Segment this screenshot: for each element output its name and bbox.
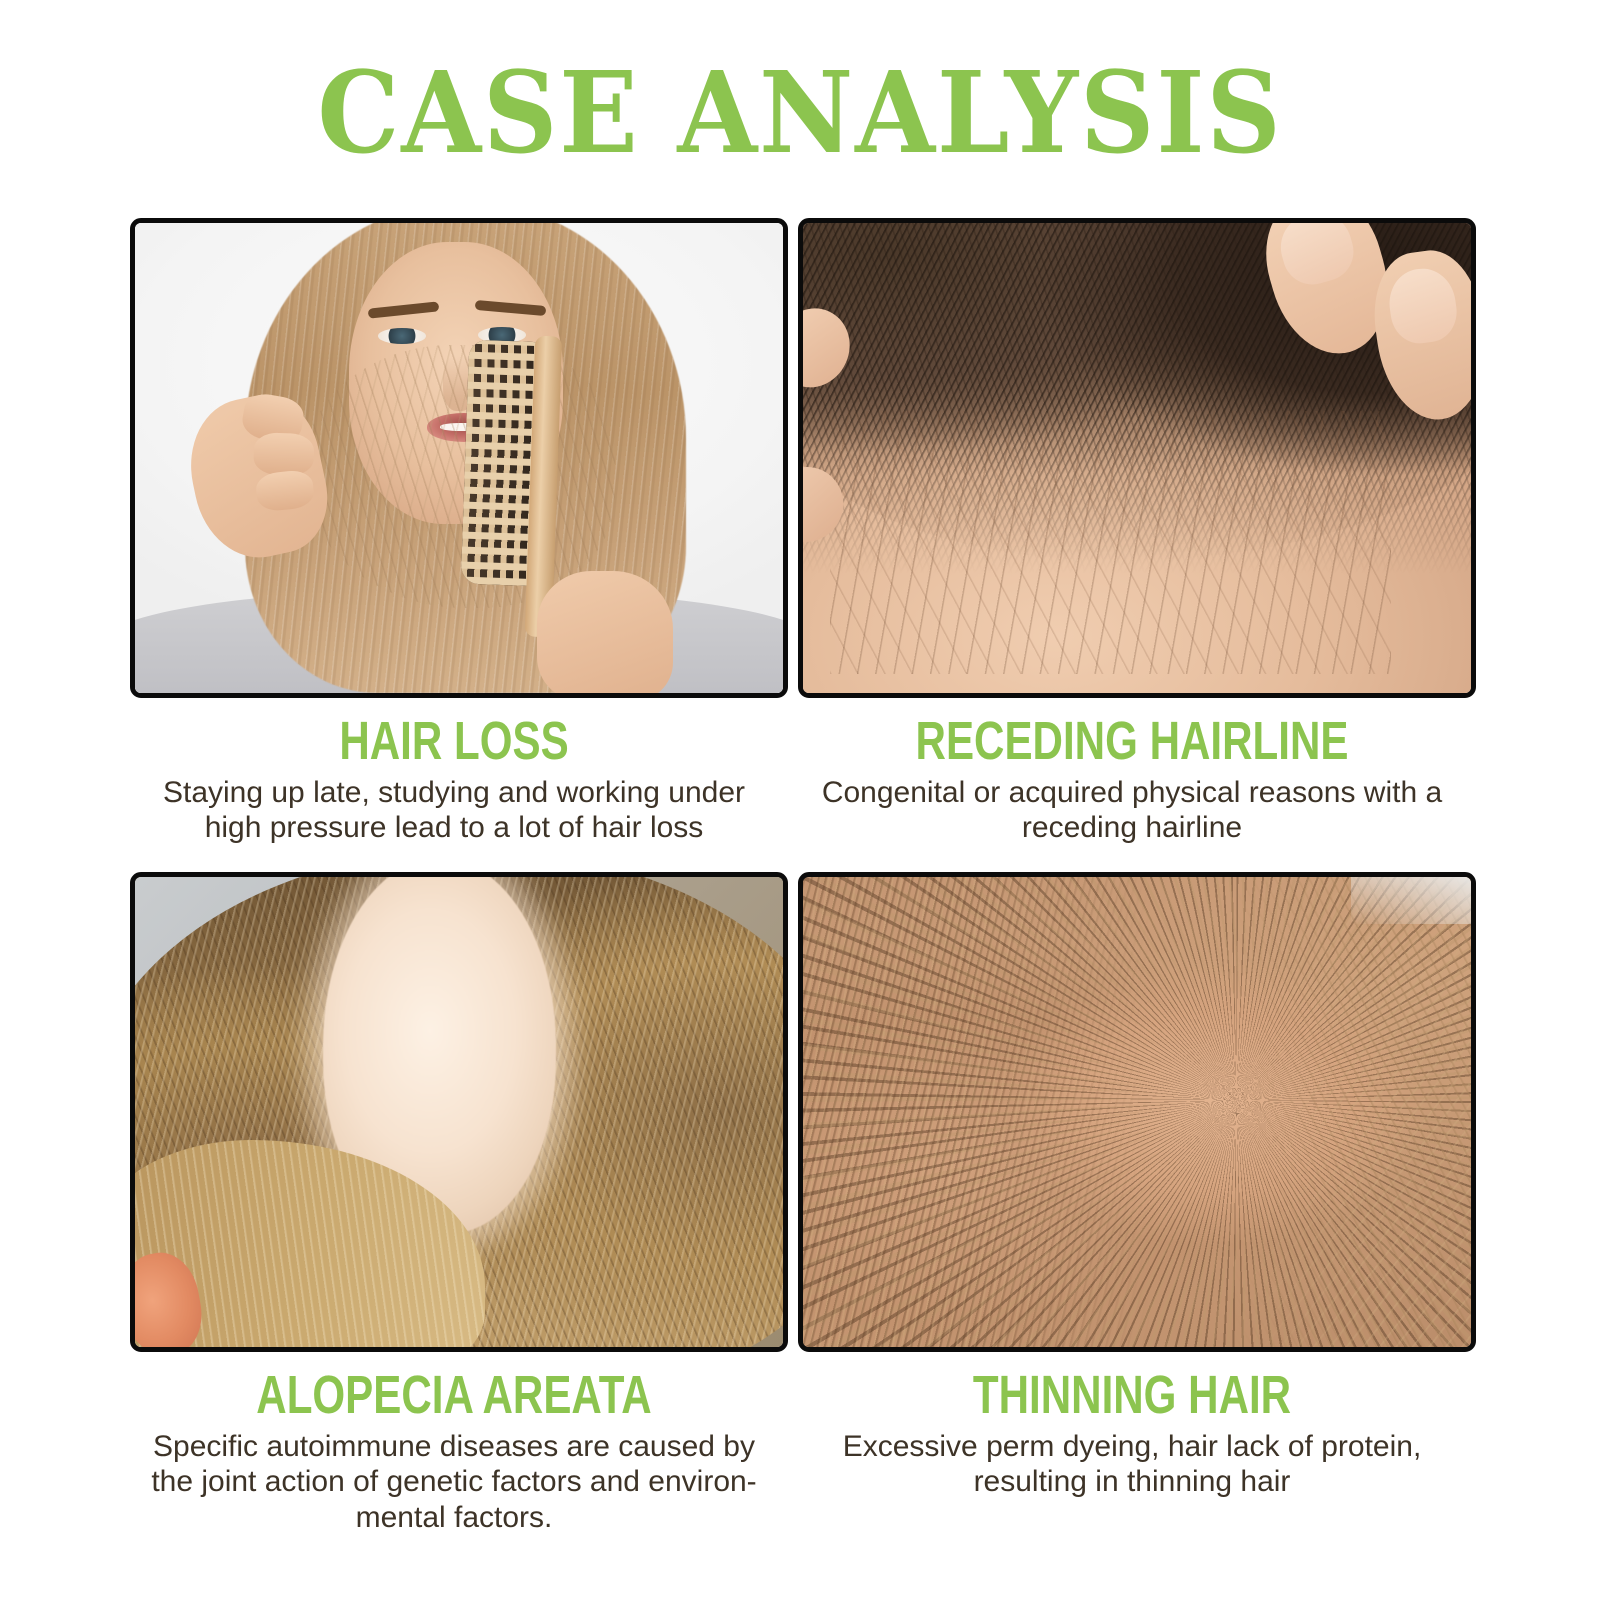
photo-frame-alopecia-areata <box>130 872 788 1352</box>
photo-frame-receding-hairline <box>798 218 1476 698</box>
case-card-thinning-hair[interactable]: THINNING HAIR Excessive perm dyeing, hai… <box>798 872 1466 1500</box>
case-heading-alopecia-areata: ALOPECIA AREATA <box>201 1368 706 1423</box>
photo-receding-hairline <box>803 223 1471 693</box>
case-caption-thinning-hair: Excessive perm dyeing, hair lack of prot… <box>798 1429 1466 1500</box>
case-caption-receding-hairline: Congenital or acquired physical reasons … <box>798 775 1466 846</box>
photo-thinning-hair <box>803 877 1471 1347</box>
case-grid: HAIR LOSS Staying up late, studying and … <box>0 0 1600 1600</box>
case-caption-hair-loss: Staying up late, studying and working un… <box>130 775 778 846</box>
case-card-alopecia-areata[interactable]: ALOPECIA AREATA Specific autoimmune dise… <box>130 872 778 1535</box>
case-card-receding-hairline[interactable]: RECEDING HAIRLINE Congenital or acquired… <box>798 218 1466 846</box>
case-analysis-infographic: CASE ANALYSIS <box>0 0 1600 1600</box>
photo-frame-hair-loss <box>130 218 788 698</box>
photo-frame-thinning-hair <box>798 872 1476 1352</box>
photo-alopecia-areata <box>135 877 783 1347</box>
case-heading-thinning-hair: THINNING HAIR <box>871 1368 1392 1423</box>
case-caption-alopecia-areata: Specific autoimmune diseases are caused … <box>130 1429 778 1535</box>
photo-hair-loss <box>135 223 783 693</box>
case-card-hair-loss[interactable]: HAIR LOSS Staying up late, studying and … <box>130 218 778 846</box>
case-heading-hair-loss: HAIR LOSS <box>201 714 706 769</box>
case-heading-receding-hairline: RECEDING HAIRLINE <box>871 714 1392 769</box>
